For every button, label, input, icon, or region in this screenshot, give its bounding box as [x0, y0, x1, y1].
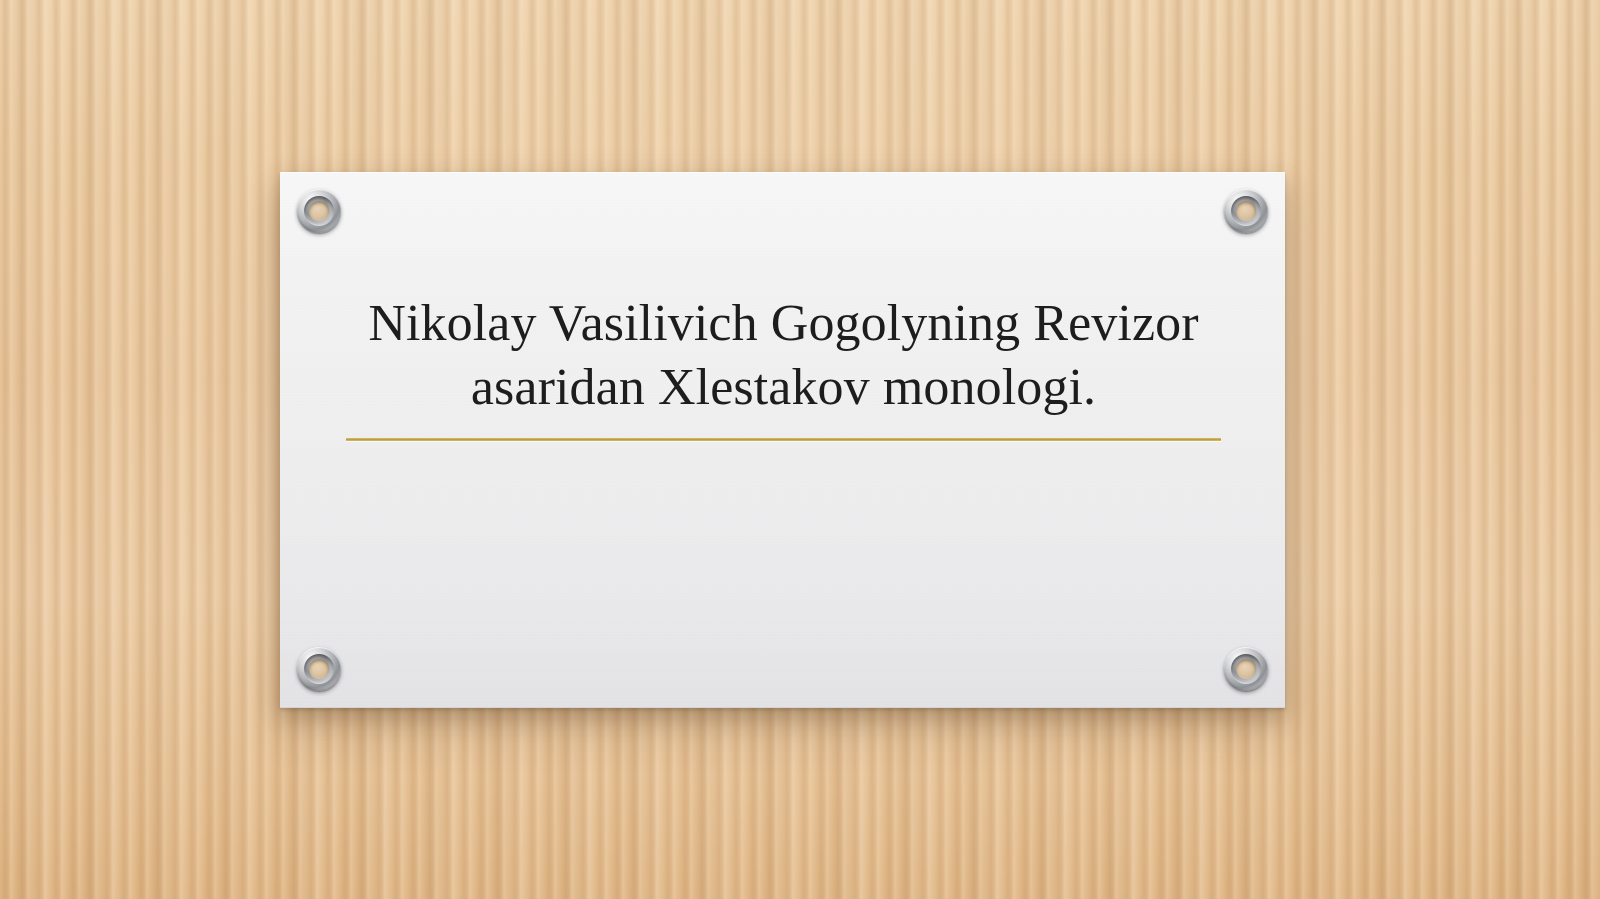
- rivet-top-right-icon: [1224, 189, 1268, 233]
- rivet-bottom-right-icon: [1224, 647, 1268, 691]
- rivet-bottom-left-icon: [297, 647, 341, 691]
- title-block: Nikolay Vasilivich Gogolyning Revizor as…: [346, 292, 1221, 441]
- rivet-top-left-icon: [297, 189, 341, 233]
- title-divider: [346, 438, 1221, 441]
- title-plaque: Nikolay Vasilivich Gogolyning Revizor as…: [280, 172, 1285, 708]
- slide-title: Nikolay Vasilivich Gogolyning Revizor as…: [346, 292, 1221, 420]
- slide-stage: Nikolay Vasilivich Gogolyning Revizor as…: [0, 0, 1600, 899]
